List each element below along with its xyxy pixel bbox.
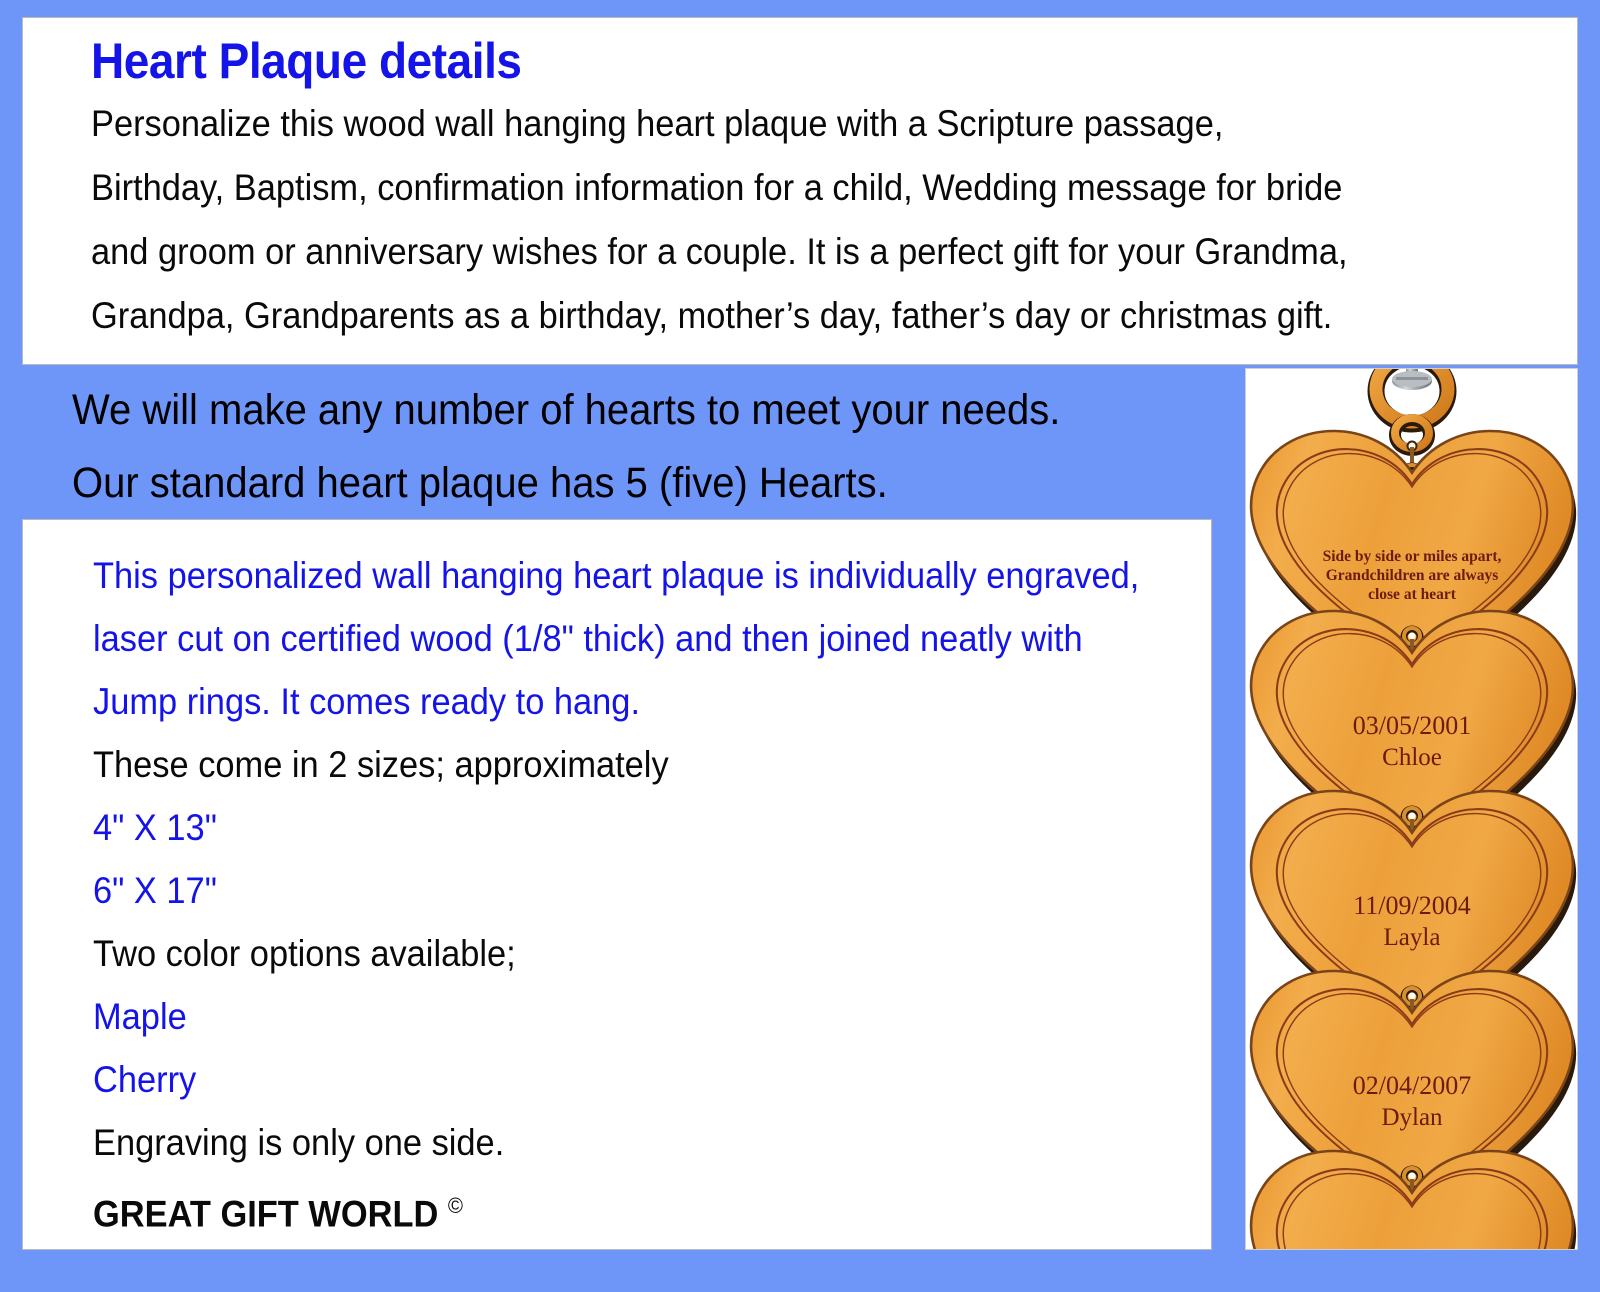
product-description: Personalize this wood wall hanging heart… xyxy=(91,92,1551,348)
intro-line: This personalized wall hanging heart pla… xyxy=(93,544,1114,607)
page-title: Heart Plaque details xyxy=(91,32,1434,90)
highlight-line: We will make any number of hearts to mee… xyxy=(72,374,1135,447)
description-line: Grandpa, Grandparents as a birthday, mot… xyxy=(91,284,1551,348)
copyright-icon: © xyxy=(448,1193,463,1218)
heart-name-text: Chloe xyxy=(1382,744,1442,771)
size-option: 4" X 13" xyxy=(93,796,1114,859)
intro-line: laser cut on certified wood (1/8" thick)… xyxy=(93,607,1114,670)
intro-line: Jump rings. It comes ready to hang. xyxy=(93,670,1114,733)
specifications-panel: This personalized wall hanging heart pla… xyxy=(22,519,1212,1250)
colors-label: Two color options available; xyxy=(93,922,1114,985)
sizes-label: These come in 2 sizes; approximately xyxy=(93,733,1114,796)
heart-plaque-image: Side by side or miles apart, Grandchildr… xyxy=(1246,369,1577,1249)
heart-message-line: Side by side or miles apart, xyxy=(1323,548,1502,565)
color-option-maple: Maple xyxy=(93,985,1114,1048)
brand-name: GREAT GIFT WORLD © xyxy=(93,1174,1114,1245)
product-detail-card: Heart Plaque details Personalize this wo… xyxy=(0,0,1600,1292)
description-line: Birthday, Baptism, confirmation informat… xyxy=(91,156,1551,220)
engraving-note: Engraving is only one side. xyxy=(93,1111,1114,1174)
heart-date: 11/09/2004 xyxy=(1353,891,1470,920)
hanger-ring-icon xyxy=(1376,369,1448,451)
heart-date: 03/05/2001 xyxy=(1353,711,1471,740)
heart-name-text: Layla xyxy=(1384,924,1441,951)
product-image-panel: Side by side or miles apart, Grandchildr… xyxy=(1245,368,1578,1250)
description-line: and groom or anniversary wishes for a co… xyxy=(91,220,1551,284)
color-option-cherry: Cherry xyxy=(93,1048,1114,1111)
heart-name-text: Dylan xyxy=(1381,1104,1443,1131)
brand-label: GREAT GIFT WORLD xyxy=(93,1193,438,1234)
heart-message-line: Grandchildren are always xyxy=(1326,567,1499,584)
size-option: 6" X 17" xyxy=(93,859,1114,922)
highlight-band: We will make any number of hearts to mee… xyxy=(0,368,1215,518)
description-line: Personalize this wood wall hanging heart… xyxy=(91,92,1551,156)
heart-date: 02/04/2007 xyxy=(1353,1071,1471,1100)
description-panel: Heart Plaque details Personalize this wo… xyxy=(22,17,1578,365)
heart-message-line: close at heart xyxy=(1368,586,1457,603)
highlight-line: Our standard heart plaque has 5 (five) H… xyxy=(72,447,1135,520)
